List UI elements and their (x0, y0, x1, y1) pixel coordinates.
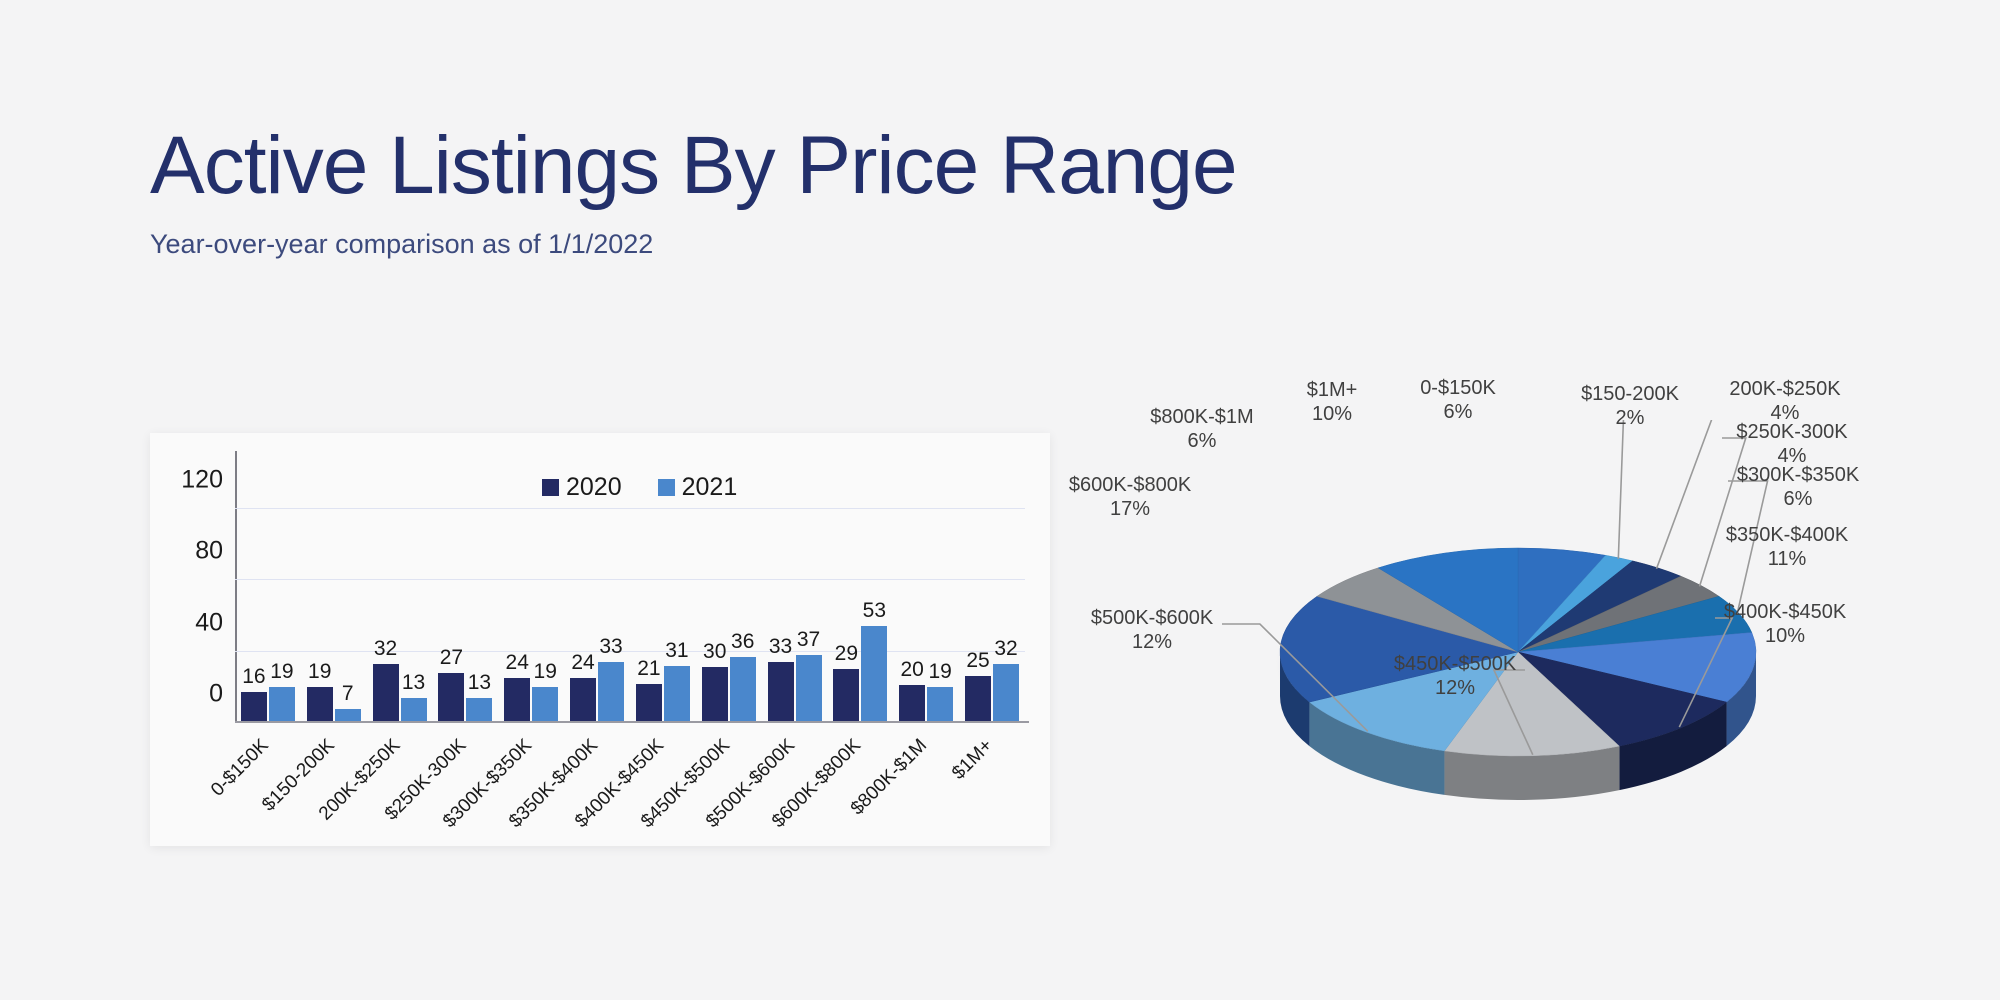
pie-label-$150-200K: $150-200K2% (1581, 382, 1679, 431)
bar-2021[interactable]: 19 (927, 473, 953, 721)
bar-2021[interactable]: 19 (532, 473, 558, 721)
pie-label-$600K-$800K: $600K-$800K17% (1069, 473, 1191, 522)
bar-2021[interactable]: 36 (730, 473, 756, 721)
bar-rect: 19 (307, 687, 333, 721)
bar-rect: 33 (598, 662, 624, 721)
bar-2020[interactable]: 32 (373, 473, 399, 721)
bar-2021[interactable]: 31 (664, 473, 690, 721)
bar-rect: 7 (335, 709, 361, 722)
bar-group: 2419 (498, 473, 564, 721)
bar-group: 2532 (959, 473, 1025, 721)
bar-rect: 53 (861, 626, 887, 721)
page-title: Active Listings By Price Range (150, 125, 1237, 207)
bar-value-label: 24 (506, 651, 529, 675)
x-axis-labels: 0-$150K$150-200K200K-$250K$250K-300K$300… (235, 729, 1025, 839)
bar-rect: 20 (899, 685, 925, 721)
bar-2021[interactable]: 33 (598, 473, 624, 721)
pie-label-name: $450K-$500K (1394, 653, 1516, 675)
pie-label-percent: 2% (1581, 406, 1679, 430)
header: Active Listings By Price Range Year-over… (150, 125, 1237, 260)
bar-2020[interactable]: 25 (965, 473, 991, 721)
bar-2021[interactable]: 37 (796, 473, 822, 721)
bar-2020[interactable]: 19 (307, 473, 333, 721)
bar-rect: 36 (730, 657, 756, 721)
bar-rect: 13 (401, 698, 427, 721)
bar-rect: 29 (833, 669, 859, 721)
bar-value-label: 19 (929, 660, 952, 684)
page-subtitle: Year-over-year comparison as of 1/1/2022 (150, 229, 1237, 260)
bar-value-label: 31 (665, 639, 688, 663)
y-axis-tick-label: 0 (209, 680, 223, 709)
bar-2021[interactable]: 53 (861, 473, 887, 721)
pie-label-200K-$250K: 200K-$250K4% (1729, 377, 1840, 426)
bar-value-label: 20 (901, 658, 924, 682)
pie-label-$400K-$450K: $400K-$450K10% (1724, 600, 1846, 649)
pie-label-percent: 11% (1726, 547, 1848, 571)
y-axis-tick-label: 40 (195, 608, 223, 637)
bar-rect: 31 (664, 666, 690, 721)
bar-2021[interactable]: 13 (401, 473, 427, 721)
pie-label-percent: 12% (1091, 630, 1213, 654)
bar-2020[interactable]: 24 (504, 473, 530, 721)
bar-value-label: 30 (703, 640, 726, 664)
bar-series-container: 1619197321327132419243321313036333729532… (235, 473, 1025, 721)
pie-label-name: $800K-$1M (1150, 406, 1253, 428)
bar-value-label: 27 (440, 646, 463, 670)
bar-rect: 33 (768, 662, 794, 721)
pie-chart-3d: 0-$150K6%$150-200K2%200K-$250K4%$250K-30… (1080, 420, 1940, 850)
pie-label-$500K-$600K: $500K-$600K12% (1091, 606, 1213, 655)
bar-value-label: 32 (374, 637, 397, 661)
bar-group: 197 (301, 473, 367, 721)
pie-label-name: 0-$150K (1420, 377, 1496, 399)
bar-value-label: 7 (342, 682, 354, 706)
pie-label-$300K-$350K: $300K-$350K6% (1737, 463, 1859, 512)
bar-rect: 13 (466, 698, 492, 721)
bar-2020[interactable]: 21 (636, 473, 662, 721)
bar-group: 3213 (367, 473, 433, 721)
pie-label-name: $300K-$350K (1737, 464, 1859, 486)
bar-rect: 24 (570, 678, 596, 721)
bar-2020[interactable]: 30 (702, 473, 728, 721)
bar-value-label: 33 (769, 635, 792, 659)
bar-value-label: 36 (731, 630, 754, 654)
pie-label-percent: 6% (1150, 429, 1253, 453)
pie-label-name: 200K-$250K (1729, 378, 1840, 400)
bar-value-label: 19 (534, 660, 557, 684)
bar-value-label: 19 (270, 660, 293, 684)
bar-value-label: 32 (994, 637, 1017, 661)
bar-rect: 19 (269, 687, 295, 721)
bar-2021[interactable]: 32 (993, 473, 1019, 721)
pie-label-percent: 12% (1394, 676, 1516, 700)
pie-leader-line (1560, 420, 1624, 559)
pie-label-$1M+: $1M+10% (1307, 378, 1358, 427)
bar-value-label: 19 (308, 660, 331, 684)
bar-chart-plot-area: 04080120 1619197321327132419243321313036… (235, 473, 1025, 723)
bar-chart-panel: 20202021 04080120 1619197321327132419243… (150, 433, 1050, 846)
bar-group: 2131 (630, 473, 696, 721)
bar-group: 2019 (893, 473, 959, 721)
pie-chart-panel: 0-$150K6%$150-200K2%200K-$250K4%$250K-30… (1080, 420, 1940, 850)
bar-value-label: 25 (966, 649, 989, 673)
pie-label-name: $250K-300K (1736, 421, 1847, 443)
bar-group: 2433 (564, 473, 630, 721)
bar-2020[interactable]: 16 (241, 473, 267, 721)
pie-label-$450K-$500K: $450K-$500K12% (1394, 652, 1516, 701)
bar-2020[interactable]: 33 (768, 473, 794, 721)
bar-group: 2713 (432, 473, 498, 721)
pie-label-name: $600K-$800K (1069, 474, 1191, 496)
bar-2021[interactable]: 13 (466, 473, 492, 721)
x-axis-line (235, 721, 1029, 723)
pie-label-percent: 17% (1069, 497, 1191, 521)
bar-value-label: 21 (637, 657, 660, 681)
x-axis-label-cell: $800K-$1M (893, 729, 959, 839)
pie-label-name: $150-200K (1581, 383, 1679, 405)
bar-2020[interactable]: 29 (833, 473, 859, 721)
bar-rect: 16 (241, 692, 267, 721)
bar-rect: 30 (702, 667, 728, 721)
pie-label-percent: 10% (1307, 402, 1358, 426)
bar-rect: 32 (993, 664, 1019, 721)
pie-label-name: $500K-$600K (1091, 607, 1213, 629)
bar-group: 2953 (827, 473, 893, 721)
pie-leader-line (1656, 420, 1720, 569)
bar-value-label: 16 (242, 665, 265, 689)
pie-label-name: $1M+ (1307, 379, 1358, 401)
bar-rect: 37 (796, 655, 822, 721)
bar-2021[interactable]: 19 (269, 473, 295, 721)
bar-rect: 32 (373, 664, 399, 721)
pie-label-percent: 6% (1420, 400, 1496, 424)
bar-value-label: 33 (599, 635, 622, 659)
bar-2020[interactable]: 27 (438, 473, 464, 721)
bar-rect: 19 (927, 687, 953, 721)
bar-2020[interactable]: 20 (899, 473, 925, 721)
bar-2021[interactable]: 7 (335, 473, 361, 721)
bar-value-label: 37 (797, 628, 820, 652)
bar-group: 3337 (762, 473, 828, 721)
pie-label-0-$150K: 0-$150K6% (1420, 376, 1496, 425)
bar-value-label: 24 (571, 651, 594, 675)
bar-value-label: 13 (402, 671, 425, 695)
y-axis-tick-label: 120 (181, 465, 223, 494)
x-axis-label-cell: $1M+ (959, 729, 1025, 839)
pie-label-name: $350K-$400K (1726, 524, 1848, 546)
bar-group: 3036 (696, 473, 762, 721)
x-axis-tick-label: 0-$150K (207, 735, 273, 801)
bar-rect: 21 (636, 684, 662, 722)
bar-rect: 19 (532, 687, 558, 721)
pie-label-percent: 6% (1737, 487, 1859, 511)
bar-rect: 27 (438, 673, 464, 721)
pie-label-$250K-300K: $250K-300K4% (1736, 420, 1847, 469)
bar-group: 1619 (235, 473, 301, 721)
bar-rect: 24 (504, 678, 530, 721)
pie-label-percent: 10% (1724, 624, 1846, 648)
pie-label-$800K-$1M: $800K-$1M6% (1150, 405, 1253, 454)
y-axis-tick-label: 80 (195, 537, 223, 566)
bar-value-label: 13 (468, 671, 491, 695)
bar-value-label: 29 (835, 642, 858, 666)
bar-value-label: 53 (863, 599, 886, 623)
bar-rect: 25 (965, 676, 991, 721)
pie-label-name: $400K-$450K (1724, 601, 1846, 623)
pie-label-$350K-$400K: $350K-$400K11% (1726, 523, 1848, 572)
bar-2020[interactable]: 24 (570, 473, 596, 721)
